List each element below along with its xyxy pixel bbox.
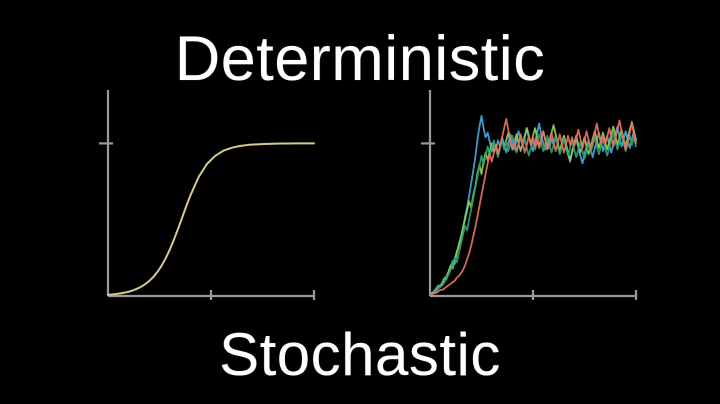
- series-line-logistic growth: [108, 143, 314, 294]
- scene: Deterministic Stochastic: [0, 0, 720, 404]
- page-title-stochastic: Stochastic: [0, 325, 720, 385]
- series-line-realization-teal: [430, 133, 636, 295]
- stochastic-chart-panel: [410, 80, 670, 310]
- deterministic-chart-panel: [88, 80, 348, 310]
- stochastic-chart-svg: [410, 80, 670, 310]
- deterministic-chart-svg: [88, 80, 348, 310]
- series-line-realization-red: [430, 119, 636, 294]
